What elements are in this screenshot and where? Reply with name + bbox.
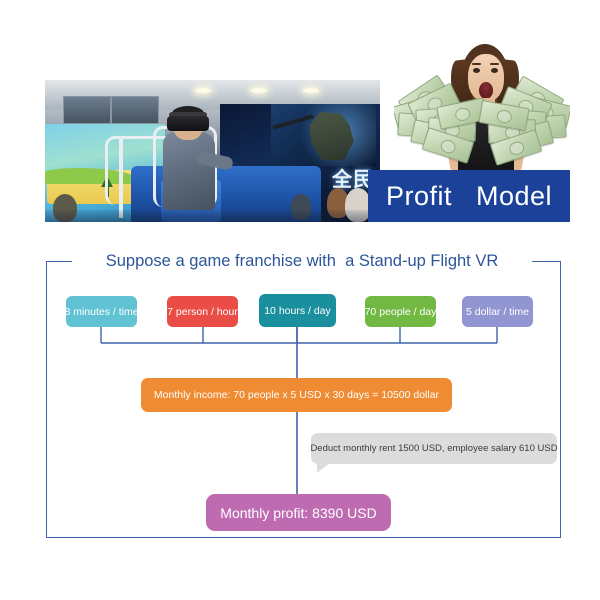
diagram-heading: Suppose a game franchise with a Stand-up… xyxy=(78,250,526,272)
param-pill-people-per-day[interactable]: 70 people / day xyxy=(365,296,436,327)
param-pill-minutes-per-time[interactable]: 8 minutes / time xyxy=(66,296,137,327)
callout-tail xyxy=(317,462,331,473)
deduction-label: Deduct monthly rent 1500 USD, employee s… xyxy=(310,443,557,454)
param-pill-dollar-per-time[interactable]: 5 dollar / time xyxy=(462,296,533,327)
monthly-profit-box[interactable]: Monthly profit: 8390 USD xyxy=(206,494,391,531)
slide-canvas: 全民 xyxy=(0,0,600,600)
monthly-income-box[interactable]: Monthly income: 70 people x 5 USD x 30 d… xyxy=(141,378,452,412)
param-pill-hours-per-day[interactable]: 10 hours / day xyxy=(259,294,336,327)
param-pill-persons-per-hour[interactable]: 7 person / hour xyxy=(167,296,238,327)
deduction-callout[interactable]: Deduct monthly rent 1500 USD, employee s… xyxy=(311,433,557,464)
